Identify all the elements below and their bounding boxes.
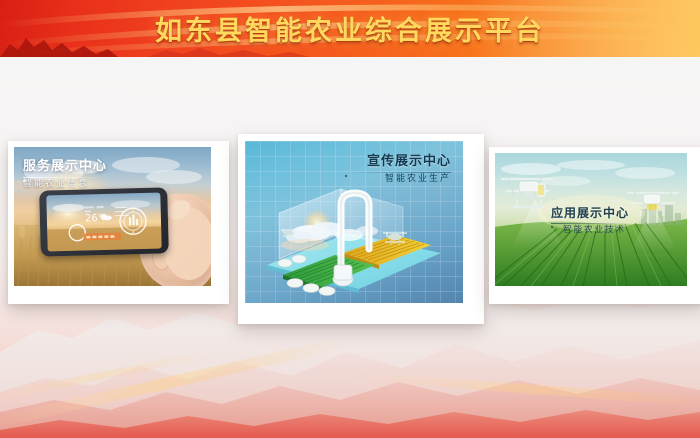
card-service-display-center[interactable]: 26° [8, 141, 229, 304]
card-application-subtitle: 智能农业技术 [563, 226, 633, 235]
svg-text:26°: 26° [85, 213, 103, 224]
card-service-image: 26° [14, 147, 211, 286]
smartphone-screen: 26° [46, 193, 161, 252]
header-banner: 如东县智能农业综合展示平台 [0, 0, 700, 57]
page-title: 如东县智能农业综合展示平台 [0, 0, 700, 57]
card-promotion-image: 宣传展示中心 智能农业生产 [245, 141, 463, 303]
bullet-dot [345, 175, 347, 177]
card-promotion-display-center[interactable]: 宣传展示中心 智能农业生产 [238, 134, 484, 324]
divider-line [23, 177, 109, 178]
divider-line [347, 172, 451, 173]
card-promotion-title: 宣传展示中心 [347, 155, 451, 169]
drone-large-left [501, 175, 553, 207]
bullet-dot [23, 180, 25, 182]
card-application-label: 应用展示中心 智能农业技术 [551, 207, 633, 235]
card-application-image: 应用展示中心 智能农业技术 [495, 153, 687, 286]
card-service-label: 服务展示中心 智能农业信息 [23, 160, 109, 190]
divider-line [551, 223, 633, 224]
card-application-display-center[interactable]: 应用展示中心 智能农业技术 [489, 147, 700, 304]
card-service-subtitle: 智能农业信息 [23, 180, 109, 190]
app-stage: 如东县智能农业综合展示平台 [0, 0, 700, 438]
card-service-title: 服务展示中心 [23, 160, 109, 174]
card-promotion-label: 宣传展示中心 智能农业生产 [347, 155, 451, 185]
bullet-dot [551, 226, 553, 228]
card-promotion-subtitle: 智能农业生产 [347, 175, 451, 185]
smartphone-device: 26° [39, 187, 169, 256]
card-application-title: 应用展示中心 [551, 207, 633, 220]
phone-ar-hud: 26° [46, 193, 161, 252]
